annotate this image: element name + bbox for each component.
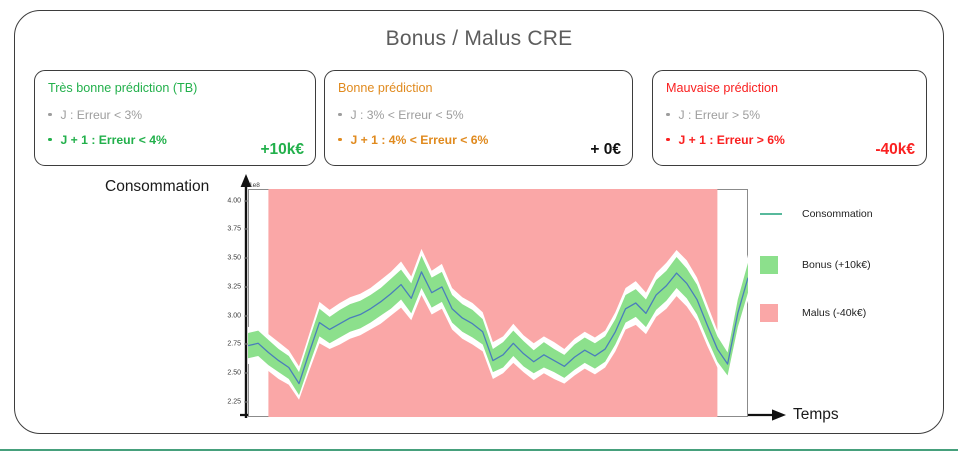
card-bullet-row: J : Erreur > 5% bbox=[666, 108, 760, 122]
legend-label: Consommation bbox=[802, 208, 873, 220]
legend-item-malus: Malus (-40k€) bbox=[760, 304, 866, 322]
bottom-divider bbox=[0, 449, 958, 451]
prediction-card-bad: Mauvaise prédiction J : Erreur > 5% J + … bbox=[652, 70, 927, 166]
card-bullet-text: J + 1 : Erreur > 6% bbox=[679, 133, 785, 147]
y-axis-tick-label: 3.75 bbox=[227, 226, 241, 233]
card-bullet-row: J + 1 : Erreur < 4% bbox=[48, 133, 167, 147]
y-axis-title: Consommation bbox=[105, 178, 209, 196]
card-amount-badge: + 0€ bbox=[590, 141, 621, 159]
bullet-dot-icon bbox=[48, 113, 52, 117]
card-bullet-row: J : 3% < Erreur < 5% bbox=[338, 108, 464, 122]
card-heading: Très bonne prédiction (TB) bbox=[48, 81, 197, 95]
bullet-dot-icon bbox=[48, 138, 52, 142]
y-axis-tick-label: 4.00 bbox=[227, 197, 241, 204]
bullet-dot-icon bbox=[338, 138, 342, 142]
card-bullet-row: J + 1 : Erreur > 6% bbox=[666, 133, 785, 147]
bullet-dot-icon bbox=[666, 113, 670, 117]
chart-plot-area: 4.003.753.503.253.002.752.502.25 bbox=[248, 189, 748, 417]
bullet-dot-icon bbox=[338, 113, 342, 117]
legend-box-swatch-icon bbox=[760, 256, 778, 274]
card-amount-badge: +10k€ bbox=[260, 141, 304, 159]
legend-label: Bonus (+10k€) bbox=[802, 259, 871, 271]
prediction-card-very-good: Très bonne prédiction (TB) J : Erreur < … bbox=[34, 70, 316, 166]
prediction-card-good: Bonne prédiction J : 3% < Erreur < 5% J … bbox=[324, 70, 633, 166]
chart-series-canvas bbox=[248, 189, 748, 417]
legend-line-swatch-icon bbox=[760, 213, 782, 215]
x-axis-title: Temps bbox=[793, 406, 839, 424]
card-bullet-text: J : Erreur > 5% bbox=[679, 108, 761, 122]
card-bullet-text: J : 3% < Erreur < 5% bbox=[351, 108, 464, 122]
y-axis-tick-label: 2.50 bbox=[227, 370, 241, 377]
card-bullet-row: J : Erreur < 3% bbox=[48, 108, 142, 122]
y-axis-tick-label: 2.25 bbox=[227, 399, 241, 406]
legend-label: Malus (-40k€) bbox=[802, 307, 866, 319]
legend-item-consommation: Consommation bbox=[760, 208, 873, 220]
card-bullet-text: J + 1 : Erreur < 4% bbox=[61, 133, 167, 147]
card-bullet-row: J + 1 : 4% < Erreur < 6% bbox=[338, 133, 488, 147]
card-heading: Mauvaise prédiction bbox=[666, 81, 778, 95]
card-amount-badge: -40k€ bbox=[875, 141, 915, 159]
bullet-dot-icon bbox=[666, 138, 670, 142]
card-heading: Bonne prédiction bbox=[338, 81, 433, 95]
y-axis-exponent-label: 1e8 bbox=[249, 182, 260, 189]
card-bullet-text: J + 1 : 4% < Erreur < 6% bbox=[351, 133, 489, 147]
y-axis-tick-label: 3.00 bbox=[227, 312, 241, 319]
y-axis-tick-label: 3.50 bbox=[227, 255, 241, 262]
card-bullet-text: J : Erreur < 3% bbox=[61, 108, 143, 122]
y-axis-tick-label: 2.75 bbox=[227, 341, 241, 348]
page-title: Bonus / Malus CRE bbox=[0, 27, 958, 51]
slide-canvas: Bonus / Malus CRE Très bonne prédiction … bbox=[0, 0, 958, 452]
legend-item-bonus: Bonus (+10k€) bbox=[760, 256, 871, 274]
legend-box-swatch-icon bbox=[760, 304, 778, 322]
y-axis-tick-label: 3.25 bbox=[227, 283, 241, 290]
